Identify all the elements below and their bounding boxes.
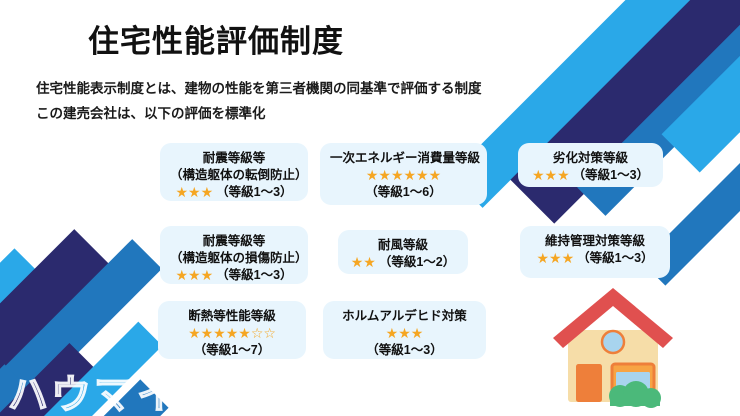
rating-card: 耐震等級等 （構造躯体の転倒防止） ★★★ （等級1〜3）: [160, 143, 308, 201]
card-title: 一次エネルギー消費量等級: [330, 150, 477, 167]
house-door-shape: [576, 364, 602, 402]
star-rating: ★★★★★★: [366, 167, 441, 184]
rating-card: 断熱等性能等級 ★★★★★☆☆ （等級1〜7）: [158, 301, 306, 359]
rating-card: 耐震等級等 （構造躯体の損傷防止） ★★★ （等級1〜3）: [160, 226, 308, 284]
star-rating: ★★★: [536, 250, 574, 267]
grade-range: （等級1〜3）: [333, 342, 476, 359]
card-rating-row: ★★★★★★: [330, 167, 477, 184]
star-rating: ★★★: [386, 325, 424, 342]
grade-range: （等級1〜3）: [577, 250, 653, 267]
star-rating: ★★★: [175, 184, 213, 201]
card-rating-row: ★★★ （等級1〜3）: [170, 184, 298, 201]
card-rating-row: ★★★ （等級1〜3）: [528, 167, 653, 184]
card-subtitle: （構造躯体の転倒防止）: [170, 167, 298, 184]
star-rating: ★★★: [175, 267, 213, 284]
star-rating: ★★★: [532, 167, 570, 184]
house-illustration: [548, 282, 678, 410]
star-rating: ★★★★★☆☆: [188, 325, 276, 342]
grade-range: （等級1〜7）: [168, 342, 296, 359]
card-title: 劣化対策等級: [528, 150, 653, 167]
card-rating-row: ★★★ （等級1〜3）: [170, 267, 298, 284]
card-title: ホルムアルデヒド対策: [333, 308, 476, 325]
card-title: 耐風等級: [348, 237, 458, 254]
slide-canvas: ハウマイ！ 住宅性能評価制度 住宅性能表示制度とは、建物の性能を第三者機関の同基…: [0, 0, 740, 416]
grade-range: （等級1〜3）: [216, 267, 292, 284]
grade-range: （等級1〜3）: [216, 184, 292, 201]
card-rating-row: ★★ （等級1〜2）: [348, 254, 458, 271]
rating-card: 一次エネルギー消費量等級 ★★★★★★ （等級1〜6）: [320, 143, 487, 205]
grade-range: （等級1〜6）: [330, 184, 477, 201]
card-title: 耐震等級等: [170, 150, 298, 167]
rating-card: 劣化対策等級 ★★★ （等級1〜3）: [518, 143, 663, 187]
card-subtitle: （構造躯体の損傷防止）: [170, 250, 298, 267]
card-rating-row: ★★★★★☆☆: [168, 325, 296, 342]
card-title: 維持管理対策等級: [530, 233, 660, 250]
rating-card: 維持管理対策等級 ★★★ （等級1〜3）: [520, 226, 670, 278]
grade-range: （等級1〜3）: [573, 167, 649, 184]
card-title: 耐震等級等: [170, 233, 298, 250]
grade-range: （等級1〜2）: [379, 254, 455, 271]
house-attic-window-shape: [602, 331, 624, 353]
star-rating: ★★: [351, 254, 376, 271]
rating-card: 耐風等級 ★★ （等級1〜2）: [338, 230, 468, 274]
rating-card: ホルムアルデヒド対策 ★★★ （等級1〜3）: [323, 301, 486, 359]
card-title: 断熱等性能等級: [168, 308, 296, 325]
card-rating-row: ★★★: [333, 325, 476, 342]
card-rating-row: ★★★ （等級1〜3）: [530, 250, 660, 267]
